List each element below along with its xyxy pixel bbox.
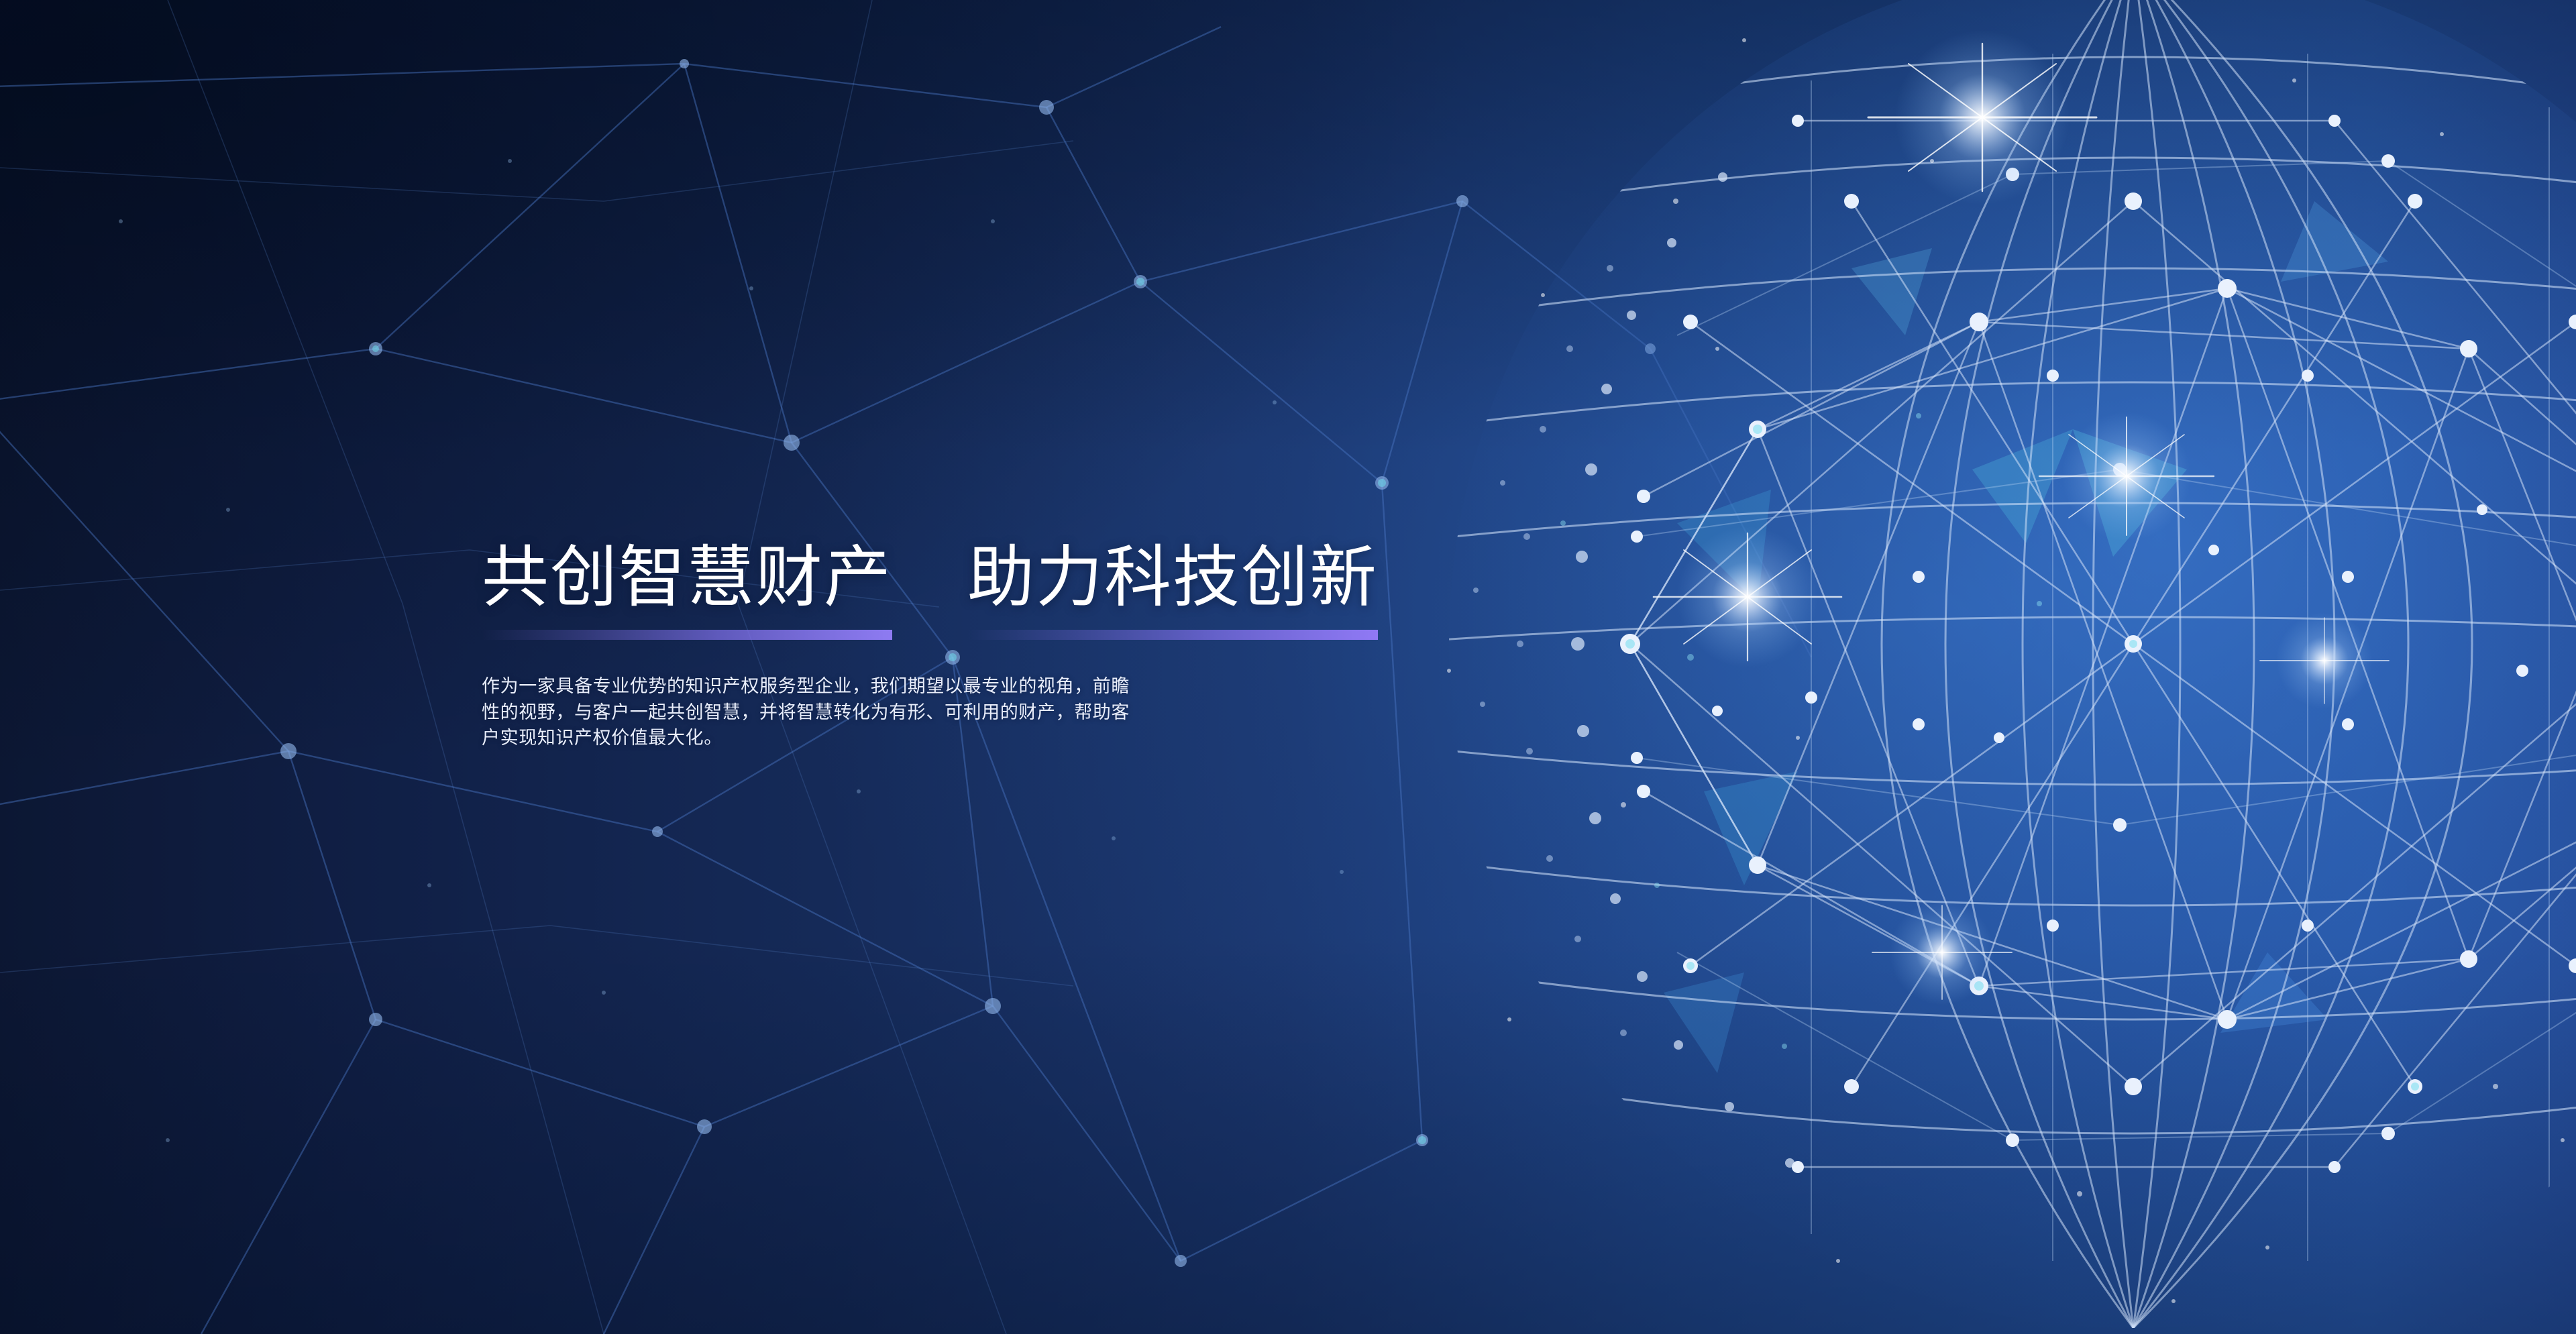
- headline-phrase-2: 助力科技创新: [967, 541, 1378, 614]
- description-line-2: 性的视野，与客户一起共创智慧，并将智慧转化为有形、可利用的财产，帮助客: [482, 700, 1391, 726]
- headline-accent-rule-1: [482, 630, 892, 640]
- description-line-3: 户实现知识产权价值最大化。: [482, 725, 1391, 751]
- headline-phrase-2-text: 助力科技创新: [967, 540, 1378, 615]
- description-line-1: 作为一家具备专业优势的知识产权服务型企业，我们期望以最专业的视角，前瞻: [482, 673, 1391, 700]
- headline-accent-rule-2: [967, 630, 1378, 640]
- page-title: 共创智慧财产 助力科技创新: [482, 541, 1434, 614]
- headline-phrase-1-text: 共创智慧财产: [482, 540, 892, 615]
- hero-text-block: 共创智慧财产 助力科技创新 作为一家具备专业优势的知识产权服务型企业，我们期望以…: [482, 541, 1434, 751]
- hero-description: 作为一家具备专业优势的知识产权服务型企业，我们期望以最专业的视角，前瞻 性的视野…: [482, 673, 1391, 751]
- hero-banner: 共创智慧财产 助力科技创新 作为一家具备专业优势的知识产权服务型企业，我们期望以…: [0, 0, 2576, 1334]
- headline-phrase-1: 共创智慧财产: [482, 541, 892, 614]
